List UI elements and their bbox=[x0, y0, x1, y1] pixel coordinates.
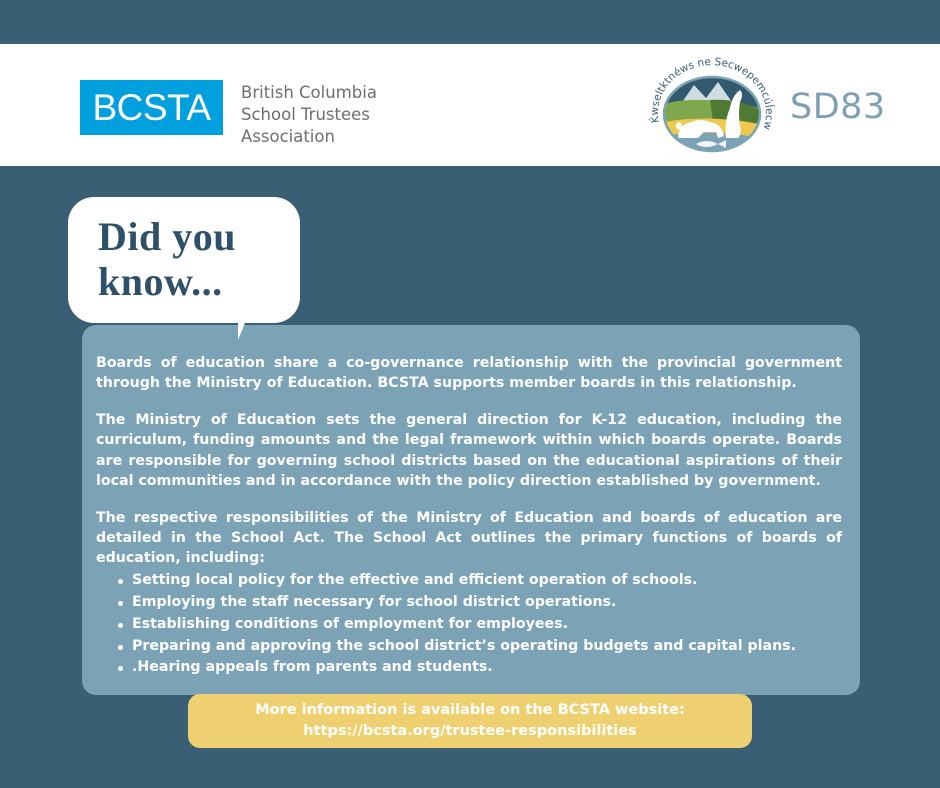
speech-bubble-tail bbox=[238, 306, 252, 340]
cta-link-url[interactable]: https://bcsta.org/trustee-responsibiliti… bbox=[303, 721, 636, 742]
sd83-label: SD83 bbox=[790, 87, 886, 127]
bcsta-logo: BCSTA British Columbia School Trustees A… bbox=[80, 80, 377, 148]
content-panel: Boards of education share a co-governanc… bbox=[82, 325, 860, 695]
paragraph-1: Boards of education share a co-governanc… bbox=[96, 353, 842, 393]
list-item: Setting local policy for the effective a… bbox=[132, 570, 842, 592]
bcsta-logo-mark: BCSTA bbox=[80, 80, 223, 135]
list-item: Employing the staff necessary for school… bbox=[132, 592, 842, 614]
poster-canvas: BCSTA British Columbia School Trustees A… bbox=[0, 0, 940, 788]
sd83-emblem-icon: Ḱwseltktnéws ne Secwepemcúĺecw bbox=[648, 52, 776, 162]
bcsta-acronym-text: BCSTA bbox=[92, 89, 210, 126]
paragraph-3: The respective responsibilities of the M… bbox=[96, 508, 842, 568]
cta-line-1: More information is available on the BCS… bbox=[255, 700, 685, 721]
list-item: .Hearing appeals from parents and studen… bbox=[132, 657, 842, 679]
list-item: Preparing and approving the school distr… bbox=[132, 636, 842, 658]
responsibilities-list: Setting local policy for the effective a… bbox=[96, 570, 842, 679]
paragraph-2: The Ministry of Education sets the gener… bbox=[96, 410, 842, 491]
speech-bubble-text: Did you know... bbox=[98, 215, 278, 305]
speech-bubble: Did you know... bbox=[68, 197, 300, 323]
sd83-logo: Ḱwseltktnéws ne Secwepemcúĺecw bbox=[648, 52, 886, 162]
bcsta-wordmark-text: British Columbia School Trustees Associa… bbox=[241, 82, 377, 148]
more-information-button[interactable]: More information is available on the BCS… bbox=[188, 694, 752, 748]
list-item: Establishing conditions of employment fo… bbox=[132, 614, 842, 636]
